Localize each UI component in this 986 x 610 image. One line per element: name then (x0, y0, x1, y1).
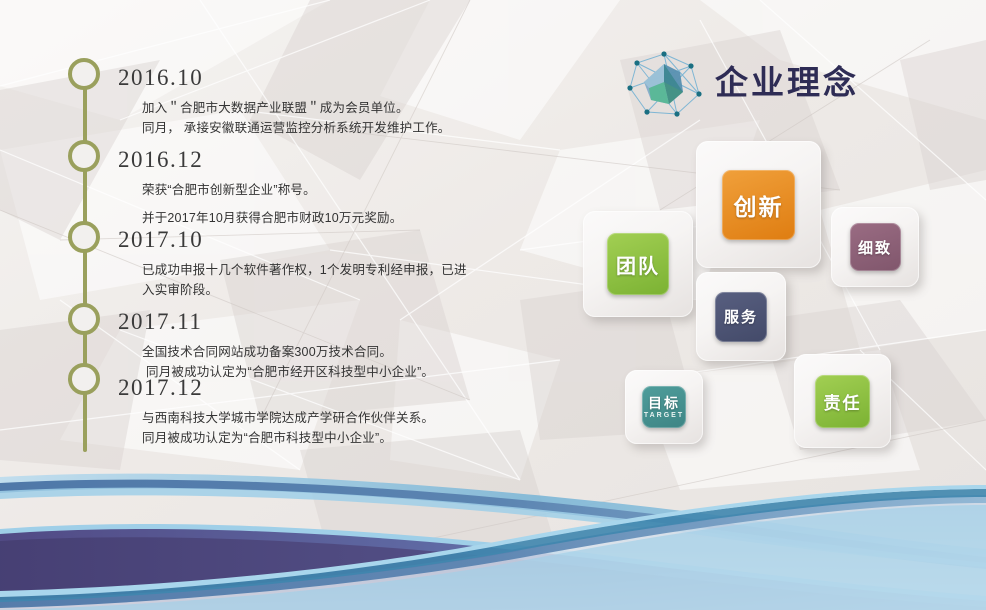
concept-label: 责任 (824, 389, 862, 414)
concept-card-team[interactable]: 团队 (583, 211, 693, 317)
concept-card-meticulous[interactable]: 细致 (831, 207, 919, 287)
concept-card-target[interactable]: 目标 TARGET (625, 370, 703, 444)
company-philosophy-slide: 2016.10 加入＂合肥市大数据产业联盟＂成为会员单位。 同月， 承接安徽联通… (0, 0, 986, 610)
concept-chip: 团队 (607, 233, 669, 295)
concept-card-innovation[interactable]: 创新 (696, 141, 821, 268)
concept-chip: 细致 (850, 223, 901, 271)
concept-label: 目标 (648, 396, 680, 410)
concept-label: 服务 (724, 306, 758, 327)
concept-chip: 创新 (722, 170, 795, 240)
concept-chip: 服务 (715, 292, 767, 342)
bottom-wave-decoration (0, 445, 986, 610)
concept-chip: 目标 TARGET (642, 386, 686, 428)
concept-card-responsibility[interactable]: 责任 (794, 354, 891, 448)
concept-chip: 责任 (815, 375, 870, 428)
concept-label: 细致 (858, 237, 892, 258)
concept-label: 创新 (734, 188, 784, 222)
concept-label: 团队 (616, 250, 660, 279)
concept-card-service[interactable]: 服务 (696, 272, 786, 361)
concept-sublabel: TARGET (644, 412, 684, 419)
